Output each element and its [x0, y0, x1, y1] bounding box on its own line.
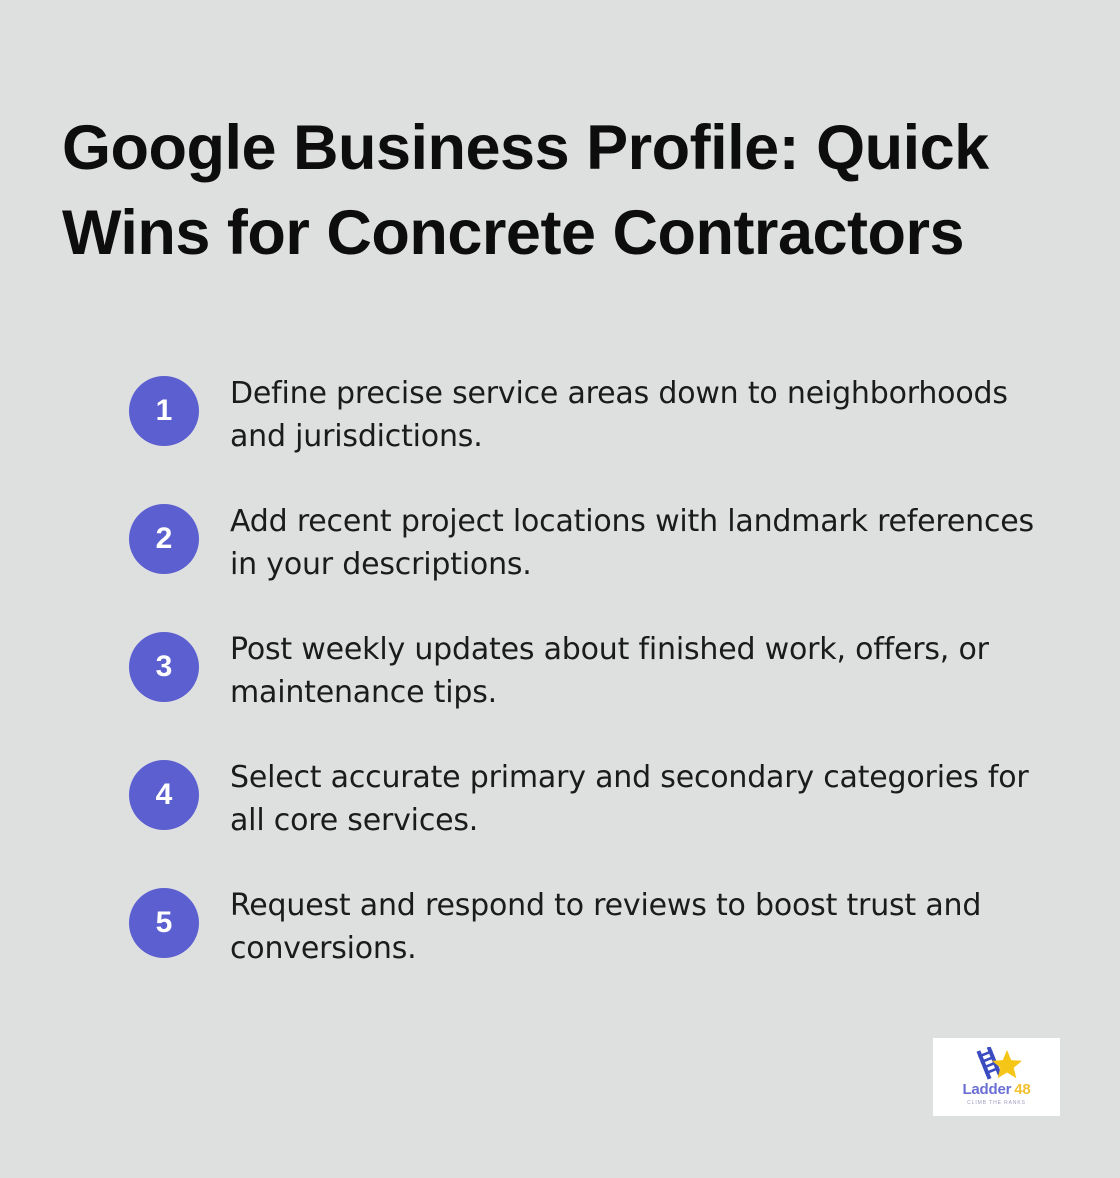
brand-logo-card: Ladder48 CLIMB THE RANKS	[933, 1038, 1060, 1116]
logo-number: 48	[1014, 1081, 1030, 1098]
tip-number-badge: 5	[129, 888, 199, 958]
logo-word: Ladder	[962, 1081, 1011, 1098]
list-item: 1 Define precise service areas down to n…	[129, 376, 1059, 504]
tip-number-badge: 1	[129, 376, 199, 446]
tip-text: Request and respond to reviews to boost …	[230, 884, 1059, 970]
logo-tagline: CLIMB THE RANKS	[967, 1100, 1026, 1107]
tip-number-badge: 2	[129, 504, 199, 574]
logo-wordmark: Ladder48	[962, 1082, 1030, 1098]
infographic-poster: Google Business Profile: Quick Wins for …	[0, 0, 1120, 1178]
tip-text: Define precise service areas down to nei…	[230, 372, 1059, 458]
list-item: 3 Post weekly updates about finished wor…	[129, 632, 1059, 760]
list-item: 5 Request and respond to reviews to boos…	[129, 888, 1059, 1016]
tip-text: Select accurate primary and secondary ca…	[230, 756, 1059, 842]
list-item: 2 Add recent project locations with land…	[129, 504, 1059, 632]
tip-number-badge: 3	[129, 632, 199, 702]
list-item: 4 Select accurate primary and secondary …	[129, 760, 1059, 888]
ladder-star-icon	[969, 1047, 1025, 1080]
tip-text: Add recent project locations with landma…	[230, 500, 1059, 586]
tip-number-badge: 4	[129, 760, 199, 830]
page-title: Google Business Profile: Quick Wins for …	[62, 106, 1052, 276]
tip-text: Post weekly updates about finished work,…	[230, 628, 1059, 714]
tips-list: 1 Define precise service areas down to n…	[129, 376, 1059, 1016]
